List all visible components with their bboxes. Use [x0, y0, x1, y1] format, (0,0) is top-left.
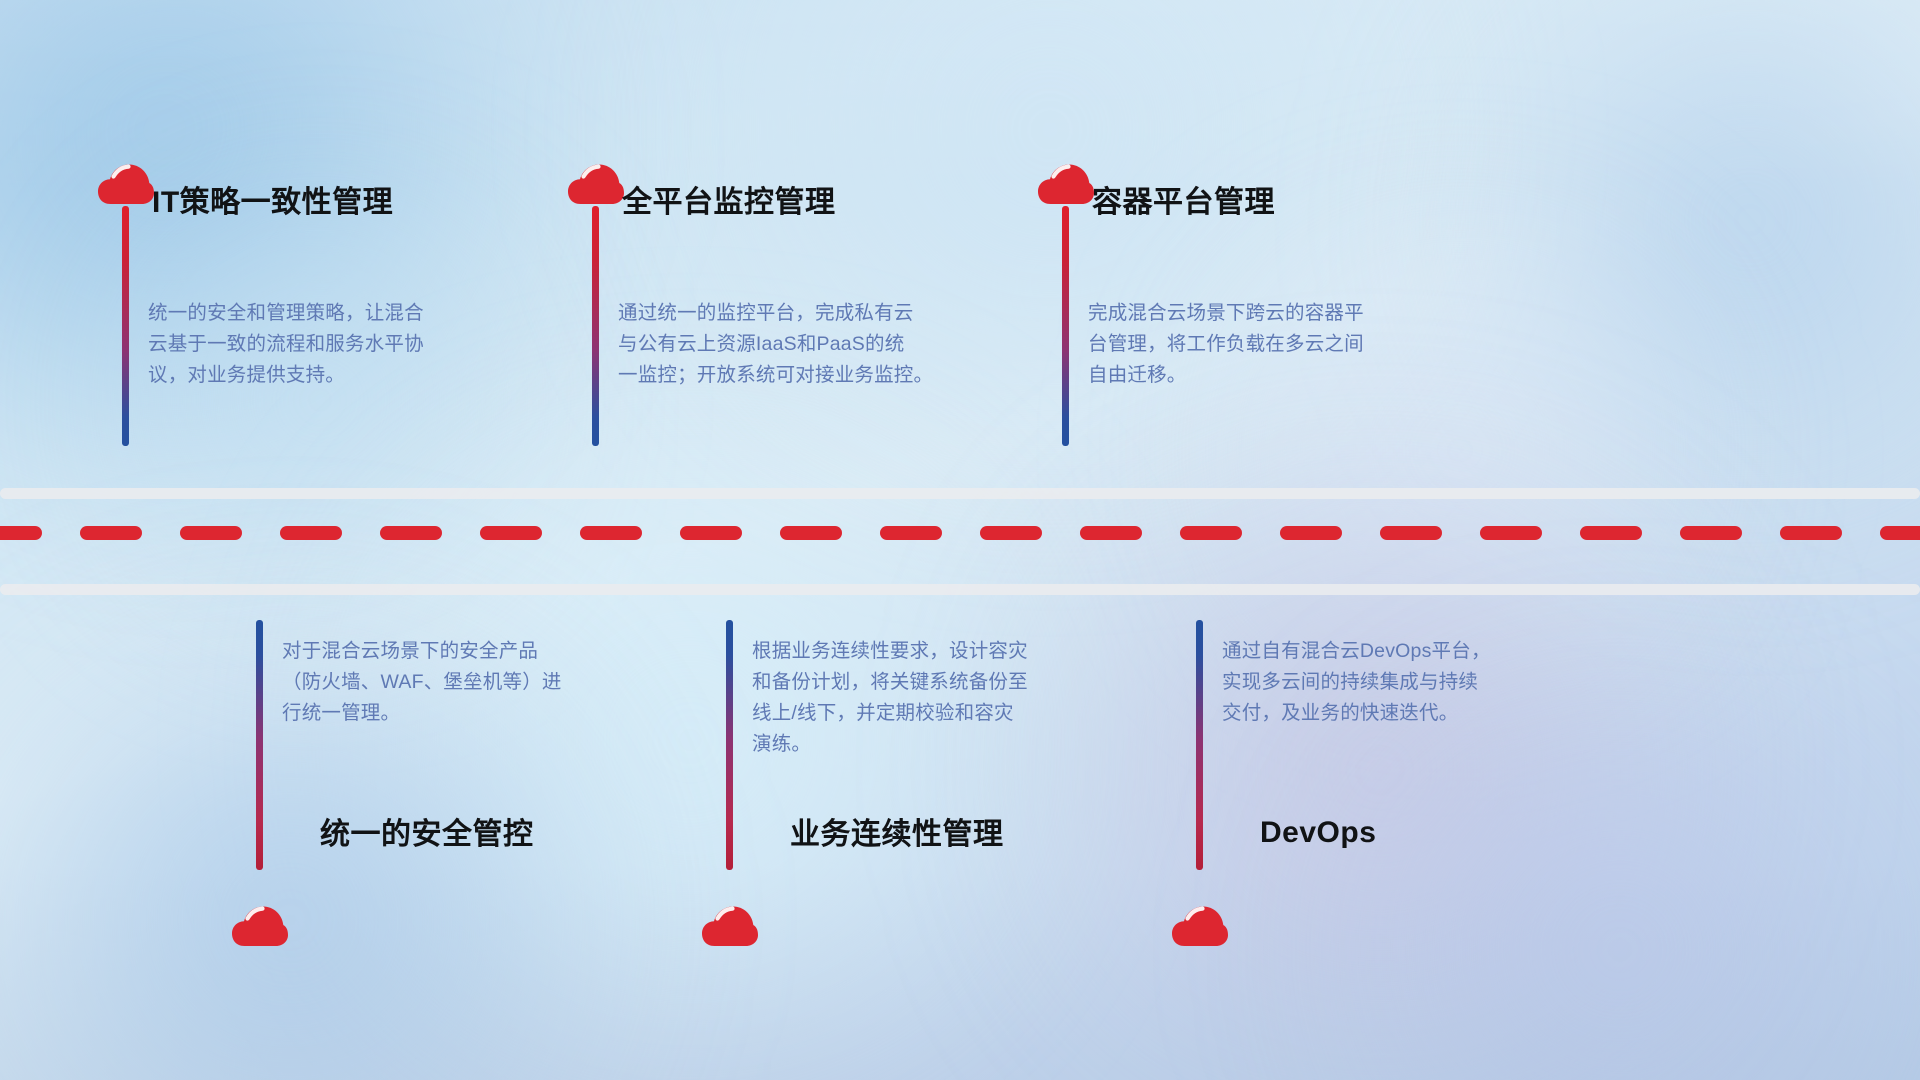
road-dash	[1280, 526, 1342, 540]
feature-description: 根据业务连续性要求，设计容灾 和备份计划，将关键系统备份至 线上/线下，并定期校…	[752, 636, 1172, 760]
cloud-pin-icon	[230, 902, 290, 954]
feature-description: 通过自有混合云DevOps平台， 实现多云间的持续集成与持续 交付，及业务的快速…	[1222, 636, 1622, 729]
road-dash	[680, 526, 742, 540]
road-dash	[1080, 526, 1142, 540]
road-dash	[280, 526, 342, 540]
timeline-stem	[592, 206, 599, 446]
feature-description: 统一的安全和管理策略，让混合 云基于一致的流程和服务水平协 议，对业务提供支持。	[148, 298, 548, 391]
timeline-stem	[1196, 620, 1203, 870]
road-center-dashes	[0, 526, 1900, 540]
road-dash	[1680, 526, 1742, 540]
timeline-stem	[726, 620, 733, 870]
road-dash	[1180, 526, 1242, 540]
road-dash	[1780, 526, 1842, 540]
road-edge-top	[0, 488, 1920, 499]
road-dash	[1480, 526, 1542, 540]
road-dash	[380, 526, 442, 540]
cloud-pin-icon	[96, 160, 156, 212]
feature-heading: 全平台监控管理	[622, 188, 836, 218]
feature-heading: 容器平台管理	[1092, 188, 1275, 218]
road-dash	[1380, 526, 1442, 540]
feature-description: 通过统一的监控平台，完成私有云 与公有云上资源IaaS和PaaS的统 一监控；开…	[618, 298, 1038, 391]
road-dash	[0, 526, 42, 540]
feature-heading: DevOps	[1260, 818, 1376, 848]
road-divider	[0, 480, 1920, 610]
cloud-pin-icon	[700, 902, 760, 954]
road-dash	[580, 526, 642, 540]
road-dash	[1580, 526, 1642, 540]
feature-description: 对于混合云场景下的安全产品 （防火墙、WAF、堡垒机等）进 行统一管理。	[282, 636, 702, 729]
feature-heading: 业务连续性管理	[790, 820, 1004, 850]
road-dash	[80, 526, 142, 540]
timeline-stem	[122, 206, 129, 446]
cloud-pin-icon	[1036, 160, 1096, 212]
road-dash	[1880, 526, 1920, 540]
timeline-stem	[256, 620, 263, 870]
timeline-stem	[1062, 206, 1069, 446]
road-dash	[480, 526, 542, 540]
feature-heading: IT策略一致性管理	[152, 188, 393, 218]
road-edge-bottom	[0, 584, 1920, 595]
road-dash	[780, 526, 842, 540]
road-dash	[180, 526, 242, 540]
feature-description: 完成混合云场景下跨云的容器平 台管理，将工作负载在多云之间 自由迁移。	[1088, 298, 1488, 391]
road-dash	[880, 526, 942, 540]
feature-heading: 统一的安全管控	[320, 820, 534, 850]
cloud-pin-icon	[566, 160, 626, 212]
cloud-pin-icon	[1170, 902, 1230, 954]
road-dash	[980, 526, 1042, 540]
